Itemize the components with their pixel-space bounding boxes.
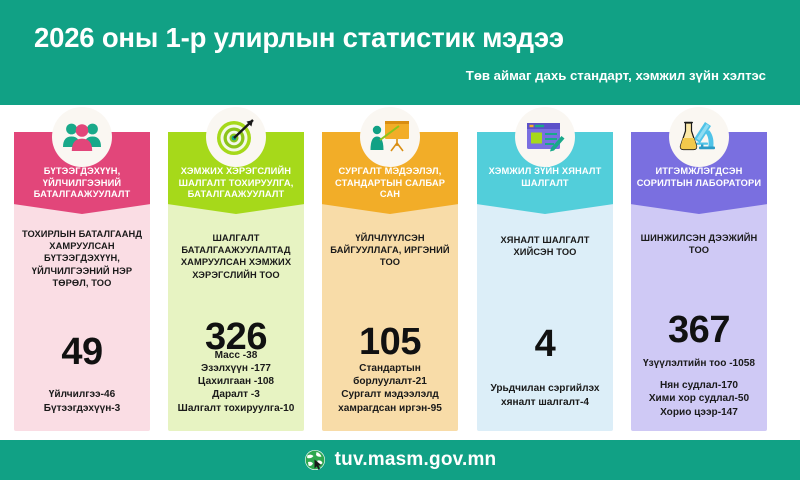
card-note: Цахилгаан -108 (171, 375, 301, 388)
card-value: 105 (322, 322, 458, 362)
card-description: ҮЙЛЧЛҮҮЛСЭН БАЙГУУЛЛАГА, ИРГЭНИЙ ТОО (329, 232, 451, 269)
card-note: Масс -38 (171, 349, 301, 362)
card-description: ШИНЖИЛСЭН ДЭЭЖИЙН ТОО (638, 232, 760, 256)
card-note: Стандартын (325, 362, 455, 375)
card-description: ШАЛГАЛТ БАТАЛГААЖУУЛАЛТАД ХАМРУУЛСАН ХЭМ… (175, 232, 297, 281)
card-value: 4 (477, 324, 613, 364)
card-title: БҮТЭЭГДЭХҮҮН, ҮЙЛЧИЛГЭЭНИЙ БАТАЛГААЖУУЛА… (18, 166, 146, 201)
globe-cursor-icon (304, 449, 326, 471)
card-notes: Урьдчилан сэргийлэх хяналт шалгалт-4 (480, 382, 610, 409)
statistic-card-certification[interactable]: БҮТЭЭГДЭХҮҮН, ҮЙЛЧИЛГЭЭНИЙ БАТАЛГААЖУУЛА… (14, 132, 150, 431)
footer-banner: tuv.masm.gov.mn (0, 440, 800, 480)
page-title: 2026 оны 1-р улирлын статистик мэдээ (34, 22, 766, 54)
microscope-flask-icon (669, 107, 729, 167)
card-description: ХЯНАЛТ ШАЛГАЛТ ХИЙСЭН ТОО (484, 234, 606, 258)
card-note: Бүтээгдэхүүн-3 (17, 402, 147, 415)
page-subtitle: Төв аймаг дахь стандарт, хэмжил зүйн хэл… (466, 68, 766, 83)
card-note: борлуулалт-21 (325, 375, 455, 388)
card-title: ИТГЭМЖЛЭГДСЭН СОРИЛТЫН ЛАБОРАТОРИ (635, 166, 763, 189)
card-title: СУРГАЛТ МЭДЭЭЛЭЛ, СТАНДАРТЫН САЛБАР САН (326, 166, 454, 201)
card-notes: Стандартын борлуулалт-21 Сургалт мэдээлэ… (325, 362, 455, 415)
statistic-card-row: БҮТЭЭГДЭХҮҮН, ҮЙЛЧИЛГЭЭНИЙ БАТАЛГААЖУУЛА… (0, 105, 800, 430)
card-notes: Масс -38 Эзэлхүүн -177 Цахилгаан -108 Да… (171, 349, 301, 415)
card-notes: Үйлчилгээ-46 Бүтээгдэхүүн-3 (17, 388, 147, 415)
card-note: Үйлчилгээ-46 (17, 388, 147, 401)
card-title: ХЭМЖИЛ ЗҮЙН ХЯНАЛТ ШАЛГАЛТ (481, 166, 609, 189)
card-note: Хими хор судлал-50 (634, 392, 764, 405)
header-banner: 2026 оны 1-р улирлын статистик мэдээ Төв… (0, 0, 800, 105)
card-description: ТОХИРЛЫН БАТАЛГААНД ХАМРУУЛСАН БҮТЭЭГДЭХ… (21, 228, 143, 289)
card-note: хяналт шалгалт-4 (480, 396, 610, 409)
card-note: Урьдчилан сэргийлэх (480, 382, 610, 395)
statistic-card-measuring-instruments[interactable]: ХЭМЖИХ ХЭРЭГСЛИЙН ШАЛГАЛТ ТОХИРУУЛГА, БА… (168, 132, 304, 431)
website-url[interactable]: tuv.masm.gov.mn (335, 449, 497, 471)
document-pen-icon (515, 107, 575, 167)
card-note: хамрагдсан иргэн-95 (325, 402, 455, 415)
statistic-card-metrology-inspection[interactable]: ХЭМЖИЛ ЗҮЙН ХЯНАЛТ ШАЛГАЛТ ХЯНАЛТ ШАЛГАЛ… (477, 132, 613, 431)
card-note: Хорио цээр-147 (634, 406, 764, 419)
presentation-teacher-icon (360, 107, 420, 167)
card-note-lead: Үзүүлэлтийн тоо -1058 (634, 357, 764, 370)
card-note: Сургалт мэдээлэлд (325, 388, 455, 401)
statistic-card-accredited-laboratory[interactable]: ИТГЭМЖЛЭГДСЭН СОРИЛТЫН ЛАБОРАТОРИ ШИНЖИЛ… (631, 132, 767, 431)
card-title: ХЭМЖИХ ХЭРЭГСЛИЙН ШАЛГАЛТ ТОХИРУУЛГА, БА… (172, 166, 300, 201)
card-note: Эзэлхүүн -177 (171, 362, 301, 375)
card-note: Нян судлал-170 (634, 379, 764, 392)
infographic-page: 2026 оны 1-р улирлын статистик мэдээ Төв… (0, 0, 800, 480)
card-note: Шалгалт тохируулга-10 (171, 402, 301, 415)
card-notes: Үзүүлэлтийн тоо -1058 Нян судлал-170 Хим… (634, 357, 764, 419)
card-note: Даралт -3 (171, 388, 301, 401)
card-value: 367 (631, 310, 767, 350)
target-arrow-icon (206, 107, 266, 167)
statistic-card-training-standards[interactable]: СУРГАЛТ МЭДЭЭЛЭЛ, СТАНДАРТЫН САЛБАР САН … (322, 132, 458, 431)
people-group-icon (52, 107, 112, 167)
card-value: 49 (14, 332, 150, 372)
